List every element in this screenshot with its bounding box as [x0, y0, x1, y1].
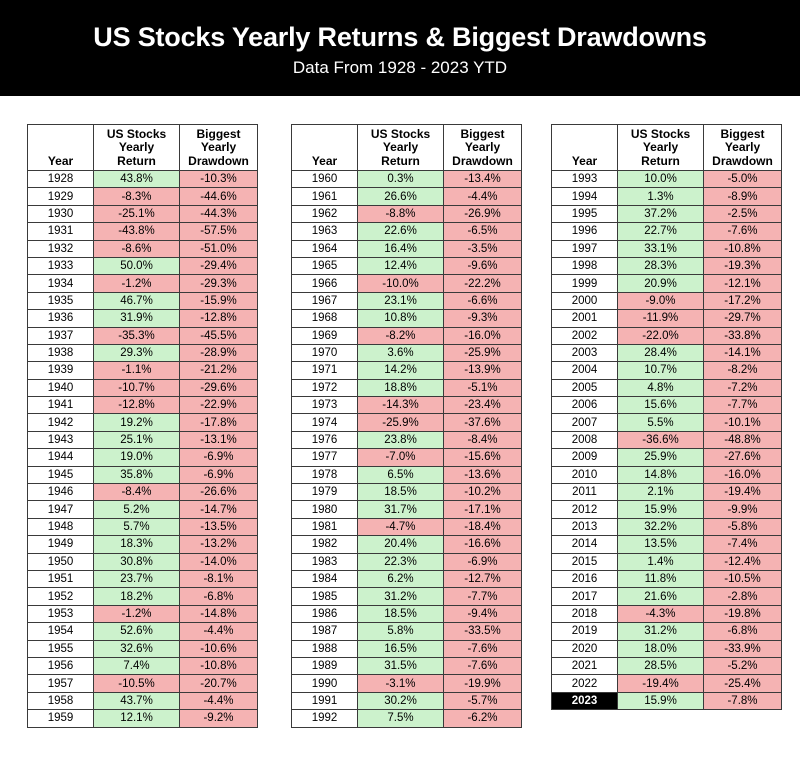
- cell-year: 1981: [292, 518, 358, 535]
- table-row: 201014.8%-16.0%: [552, 466, 782, 483]
- cell-year: 2004: [552, 362, 618, 379]
- cell-yearly-return: 19.0%: [94, 449, 180, 466]
- cell-year: 1986: [292, 605, 358, 622]
- table-row: 1969-8.2%-16.0%: [292, 327, 522, 344]
- cell-yearly-return: 2.1%: [618, 484, 704, 501]
- cell-biggest-drawdown: -25.4%: [704, 675, 782, 692]
- table-row: 200410.7%-8.2%: [552, 362, 782, 379]
- cell-biggest-drawdown: -10.5%: [704, 570, 782, 587]
- cell-year-highlighted: 2023: [552, 692, 618, 709]
- tables-area: YearUS StocksYearlyReturnBiggestYearlyDr…: [0, 96, 800, 768]
- table-row: 194918.3%-13.2%: [28, 536, 258, 553]
- cell-yearly-return: 1.3%: [618, 188, 704, 205]
- table-header-row: YearUS StocksYearlyReturnBiggestYearlyDr…: [552, 125, 782, 171]
- cell-yearly-return: 31.5%: [358, 657, 444, 674]
- cell-biggest-drawdown: -10.6%: [180, 640, 258, 657]
- cell-yearly-return: 29.3%: [94, 344, 180, 361]
- cell-biggest-drawdown: -9.9%: [704, 501, 782, 518]
- cell-year: 1956: [28, 657, 94, 674]
- cell-year: 1954: [28, 623, 94, 640]
- cell-biggest-drawdown: -27.6%: [704, 449, 782, 466]
- cell-yearly-return: 5.5%: [618, 414, 704, 431]
- cell-biggest-drawdown: -12.7%: [444, 570, 522, 587]
- table-row: 197623.8%-8.4%: [292, 431, 522, 448]
- cell-biggest-drawdown: -13.1%: [180, 431, 258, 448]
- cell-yearly-return: 28.5%: [618, 657, 704, 674]
- table-row: 19786.5%-13.6%: [292, 466, 522, 483]
- cell-yearly-return: 28.4%: [618, 344, 704, 361]
- cell-yearly-return: -1.1%: [94, 362, 180, 379]
- cell-biggest-drawdown: -12.4%: [704, 553, 782, 570]
- cell-year: 2022: [552, 675, 618, 692]
- cell-year: 1984: [292, 570, 358, 587]
- table-row: 19567.4%-10.8%: [28, 657, 258, 674]
- table-row: 199310.0%-5.0%: [552, 171, 782, 188]
- table-row: 20054.8%-7.2%: [552, 379, 782, 396]
- cell-yearly-return: 18.0%: [618, 640, 704, 657]
- cell-year: 1930: [28, 205, 94, 222]
- cell-yearly-return: 11.8%: [618, 570, 704, 587]
- cell-year: 1971: [292, 362, 358, 379]
- cell-yearly-return: -22.0%: [618, 327, 704, 344]
- cell-yearly-return: -4.3%: [618, 605, 704, 622]
- cell-biggest-drawdown: -57.5%: [180, 223, 258, 240]
- cell-biggest-drawdown: -8.4%: [444, 431, 522, 448]
- cell-year: 1970: [292, 344, 358, 361]
- cell-yearly-return: -8.6%: [94, 240, 180, 257]
- table-row: 1981-4.7%-18.4%: [292, 518, 522, 535]
- cell-yearly-return: -10.0%: [358, 275, 444, 292]
- cell-year: 1937: [28, 327, 94, 344]
- cell-yearly-return: 5.7%: [94, 518, 180, 535]
- cell-year: 1965: [292, 257, 358, 274]
- cell-biggest-drawdown: -12.8%: [180, 310, 258, 327]
- cell-biggest-drawdown: -9.3%: [444, 310, 522, 327]
- header-banner: US Stocks Yearly Returns & Biggest Drawd…: [0, 0, 800, 96]
- table-row: 1974-25.9%-37.6%: [292, 414, 522, 431]
- cell-biggest-drawdown: -51.0%: [180, 240, 258, 257]
- column-header-year: Year: [292, 125, 358, 171]
- cell-biggest-drawdown: -6.9%: [444, 553, 522, 570]
- cell-yearly-return: 31.9%: [94, 310, 180, 327]
- cell-yearly-return: -8.2%: [358, 327, 444, 344]
- cell-biggest-drawdown: -6.9%: [180, 466, 258, 483]
- cell-year: 1983: [292, 553, 358, 570]
- table-row: 19875.8%-33.5%: [292, 623, 522, 640]
- cell-biggest-drawdown: -6.6%: [444, 292, 522, 309]
- cell-yearly-return: 14.2%: [358, 362, 444, 379]
- cell-year: 2018: [552, 605, 618, 622]
- cell-yearly-return: 1.4%: [618, 553, 704, 570]
- cell-yearly-return: 12.4%: [358, 257, 444, 274]
- cell-year: 2016: [552, 570, 618, 587]
- table-row: 20075.5%-10.1%: [552, 414, 782, 431]
- cell-biggest-drawdown: -12.1%: [704, 275, 782, 292]
- table-row: 201413.5%-7.4%: [552, 536, 782, 553]
- cell-yearly-return: 23.8%: [358, 431, 444, 448]
- cell-yearly-return: -10.5%: [94, 675, 180, 692]
- table-row: 194325.1%-13.1%: [28, 431, 258, 448]
- cell-year: 1952: [28, 588, 94, 605]
- table-row: 199828.3%-19.3%: [552, 257, 782, 274]
- cell-yearly-return: 7.5%: [358, 710, 444, 727]
- cell-yearly-return: 22.7%: [618, 223, 704, 240]
- cell-yearly-return: 30.8%: [94, 553, 180, 570]
- cell-biggest-drawdown: -5.7%: [444, 692, 522, 709]
- cell-yearly-return: 14.8%: [618, 466, 704, 483]
- cell-yearly-return: -25.1%: [94, 205, 180, 222]
- cell-yearly-return: 10.0%: [618, 171, 704, 188]
- cell-yearly-return: 23.1%: [358, 292, 444, 309]
- table-row: 19703.6%-25.9%: [292, 344, 522, 361]
- table-row: 192843.8%-10.3%: [28, 171, 258, 188]
- cell-biggest-drawdown: -13.6%: [444, 466, 522, 483]
- table-row: 194219.2%-17.8%: [28, 414, 258, 431]
- table-row: 194419.0%-6.9%: [28, 449, 258, 466]
- cell-biggest-drawdown: -6.8%: [704, 623, 782, 640]
- cell-biggest-drawdown: -7.4%: [704, 536, 782, 553]
- table-row: 2022-19.4%-25.4%: [552, 675, 782, 692]
- table-row: 196126.6%-4.4%: [292, 188, 522, 205]
- cell-year: 1935: [28, 292, 94, 309]
- cell-yearly-return: 3.6%: [358, 344, 444, 361]
- cell-yearly-return: -43.8%: [94, 223, 180, 240]
- column-header-yearly-return: US StocksYearlyReturn: [94, 125, 180, 171]
- cell-biggest-drawdown: -2.5%: [704, 205, 782, 222]
- cell-biggest-drawdown: -25.9%: [444, 344, 522, 361]
- cell-yearly-return: 26.6%: [358, 188, 444, 205]
- table-row: 198031.7%-17.1%: [292, 501, 522, 518]
- cell-yearly-return: 18.2%: [94, 588, 180, 605]
- cell-yearly-return: 12.1%: [94, 710, 180, 727]
- table-row: 195912.1%-9.2%: [28, 710, 258, 727]
- page-subtitle: Data From 1928 - 2023 YTD: [293, 59, 507, 78]
- cell-biggest-drawdown: -13.9%: [444, 362, 522, 379]
- cell-biggest-drawdown: -29.3%: [180, 275, 258, 292]
- table-row: 1941-12.8%-22.9%: [28, 397, 258, 414]
- cell-yearly-return: 22.6%: [358, 223, 444, 240]
- cell-yearly-return: 16.5%: [358, 640, 444, 657]
- cell-yearly-return: 15.6%: [618, 397, 704, 414]
- cell-biggest-drawdown: -10.8%: [704, 240, 782, 257]
- table-row: 202128.5%-5.2%: [552, 657, 782, 674]
- cell-year: 1982: [292, 536, 358, 553]
- table-row: 1934-1.2%-29.3%: [28, 275, 258, 292]
- table-row: 198618.5%-9.4%: [292, 605, 522, 622]
- cell-year: 1938: [28, 344, 94, 361]
- cell-year: 1936: [28, 310, 94, 327]
- table-row: 198531.2%-7.7%: [292, 588, 522, 605]
- cell-yearly-return: 33.1%: [618, 240, 704, 257]
- cell-biggest-drawdown: -5.8%: [704, 518, 782, 535]
- cell-biggest-drawdown: -20.7%: [180, 675, 258, 692]
- cell-biggest-drawdown: -6.2%: [444, 710, 522, 727]
- table-row: 193631.9%-12.8%: [28, 310, 258, 327]
- cell-biggest-drawdown: -10.8%: [180, 657, 258, 674]
- cell-year: 1998: [552, 257, 618, 274]
- cell-yearly-return: 31.2%: [358, 588, 444, 605]
- table-row: 196322.6%-6.5%: [292, 223, 522, 240]
- cell-biggest-drawdown: -10.3%: [180, 171, 258, 188]
- cell-year: 1973: [292, 397, 358, 414]
- cell-year: 1964: [292, 240, 358, 257]
- table-row: 198322.3%-6.9%: [292, 553, 522, 570]
- cell-biggest-drawdown: -19.8%: [704, 605, 782, 622]
- cell-yearly-return: 6.5%: [358, 466, 444, 483]
- table-row: 1977-7.0%-15.6%: [292, 449, 522, 466]
- cell-year: 1933: [28, 257, 94, 274]
- cell-year: 1944: [28, 449, 94, 466]
- cell-yearly-return: -3.1%: [358, 675, 444, 692]
- cell-year: 2017: [552, 588, 618, 605]
- cell-biggest-drawdown: -2.8%: [704, 588, 782, 605]
- cell-biggest-drawdown: -23.4%: [444, 397, 522, 414]
- cell-yearly-return: -4.7%: [358, 518, 444, 535]
- cell-yearly-return: 28.3%: [618, 257, 704, 274]
- cell-biggest-drawdown: -19.4%: [704, 484, 782, 501]
- cell-biggest-drawdown: -3.5%: [444, 240, 522, 257]
- page-root: US Stocks Yearly Returns & Biggest Drawd…: [0, 0, 800, 768]
- cell-year: 1985: [292, 588, 358, 605]
- cell-year: 1995: [552, 205, 618, 222]
- table-row: 2018-4.3%-19.8%: [552, 605, 782, 622]
- cell-year: 1928: [28, 171, 94, 188]
- table-row: 19485.7%-13.5%: [28, 518, 258, 535]
- cell-biggest-drawdown: -45.5%: [180, 327, 258, 344]
- cell-year: 1961: [292, 188, 358, 205]
- cell-yearly-return: -8.3%: [94, 188, 180, 205]
- cell-year: 1929: [28, 188, 94, 205]
- cell-year: 2012: [552, 501, 618, 518]
- cell-biggest-drawdown: -4.4%: [444, 188, 522, 205]
- column-header-biggest-drawdown: BiggestYearlyDrawdown: [444, 125, 522, 171]
- cell-year: 1997: [552, 240, 618, 257]
- cell-year: 1990: [292, 675, 358, 692]
- cell-year: 2019: [552, 623, 618, 640]
- cell-biggest-drawdown: -7.7%: [444, 588, 522, 605]
- cell-biggest-drawdown: -29.6%: [180, 379, 258, 396]
- cell-year: 1999: [552, 275, 618, 292]
- cell-year: 2005: [552, 379, 618, 396]
- table-row: 1929-8.3%-44.6%: [28, 188, 258, 205]
- cell-yearly-return: 31.2%: [618, 623, 704, 640]
- cell-biggest-drawdown: -22.9%: [180, 397, 258, 414]
- cell-biggest-drawdown: -8.2%: [704, 362, 782, 379]
- table-row: 202315.9%-7.8%: [552, 692, 782, 709]
- cell-yearly-return: -10.7%: [94, 379, 180, 396]
- cell-year: 1959: [28, 710, 94, 727]
- cell-yearly-return: -8.8%: [358, 205, 444, 222]
- cell-year: 1994: [552, 188, 618, 205]
- cell-year: 1948: [28, 518, 94, 535]
- cell-biggest-drawdown: -10.1%: [704, 414, 782, 431]
- cell-year: 2001: [552, 310, 618, 327]
- cell-yearly-return: 43.8%: [94, 171, 180, 188]
- cell-year: 1940: [28, 379, 94, 396]
- cell-yearly-return: 23.7%: [94, 570, 180, 587]
- cell-biggest-drawdown: -14.7%: [180, 501, 258, 518]
- cell-yearly-return: 4.8%: [618, 379, 704, 396]
- cell-year: 1962: [292, 205, 358, 222]
- cell-year: 1931: [28, 223, 94, 240]
- cell-year: 1977: [292, 449, 358, 466]
- table-row: 201721.6%-2.8%: [552, 588, 782, 605]
- cell-biggest-drawdown: -8.1%: [180, 570, 258, 587]
- cell-yearly-return: 5.2%: [94, 501, 180, 518]
- cell-biggest-drawdown: -6.8%: [180, 588, 258, 605]
- cell-year: 2020: [552, 640, 618, 657]
- table-row: 195843.7%-4.4%: [28, 692, 258, 709]
- cell-biggest-drawdown: -16.6%: [444, 536, 522, 553]
- cell-yearly-return: -25.9%: [358, 414, 444, 431]
- cell-year: 1943: [28, 431, 94, 448]
- cell-yearly-return: 0.3%: [358, 171, 444, 188]
- cell-biggest-drawdown: -5.2%: [704, 657, 782, 674]
- cell-biggest-drawdown: -14.8%: [180, 605, 258, 622]
- table-row: 196416.4%-3.5%: [292, 240, 522, 257]
- cell-biggest-drawdown: -17.1%: [444, 501, 522, 518]
- table-row: 1946-8.4%-26.6%: [28, 484, 258, 501]
- table-header-row: YearUS StocksYearlyReturnBiggestYearlyDr…: [292, 125, 522, 171]
- cell-year: 1932: [28, 240, 94, 257]
- table-row: 1966-10.0%-22.2%: [292, 275, 522, 292]
- cell-yearly-return: 31.7%: [358, 501, 444, 518]
- cell-year: 1949: [28, 536, 94, 553]
- cell-yearly-return: -36.6%: [618, 431, 704, 448]
- table-row: 19927.5%-6.2%: [292, 710, 522, 727]
- cell-biggest-drawdown: -7.6%: [704, 223, 782, 240]
- cell-biggest-drawdown: -33.9%: [704, 640, 782, 657]
- cell-biggest-drawdown: -44.3%: [180, 205, 258, 222]
- cell-yearly-return: 25.1%: [94, 431, 180, 448]
- cell-year: 1978: [292, 466, 358, 483]
- table-row: 1953-1.2%-14.8%: [28, 605, 258, 622]
- table-row: 197114.2%-13.9%: [292, 362, 522, 379]
- cell-biggest-drawdown: -16.0%: [704, 466, 782, 483]
- table-row: 195452.6%-4.4%: [28, 623, 258, 640]
- table-row: 196512.4%-9.6%: [292, 257, 522, 274]
- cell-yearly-return: -9.0%: [618, 292, 704, 309]
- cell-yearly-return: 18.8%: [358, 379, 444, 396]
- cell-biggest-drawdown: -7.7%: [704, 397, 782, 414]
- cell-yearly-return: 6.2%: [358, 570, 444, 587]
- cell-yearly-return: 50.0%: [94, 257, 180, 274]
- cell-biggest-drawdown: -22.2%: [444, 275, 522, 292]
- table-row: 201931.2%-6.8%: [552, 623, 782, 640]
- table-row: 19600.3%-13.4%: [292, 171, 522, 188]
- cell-yearly-return: 32.6%: [94, 640, 180, 657]
- table-row: 202018.0%-33.9%: [552, 640, 782, 657]
- cell-year: 1979: [292, 484, 358, 501]
- column-header-yearly-return: US StocksYearlyReturn: [618, 125, 704, 171]
- cell-biggest-drawdown: -26.6%: [180, 484, 258, 501]
- cell-yearly-return: -8.4%: [94, 484, 180, 501]
- cell-year: 1966: [292, 275, 358, 292]
- table-row: 193546.7%-15.9%: [28, 292, 258, 309]
- cell-biggest-drawdown: -21.2%: [180, 362, 258, 379]
- cell-biggest-drawdown: -15.9%: [180, 292, 258, 309]
- cell-biggest-drawdown: -17.8%: [180, 414, 258, 431]
- table-row: 195532.6%-10.6%: [28, 640, 258, 657]
- cell-yearly-return: 18.3%: [94, 536, 180, 553]
- table-row: 1939-1.1%-21.2%: [28, 362, 258, 379]
- cell-year: 2000: [552, 292, 618, 309]
- column-header-year: Year: [552, 125, 618, 171]
- table-row: 199733.1%-10.8%: [552, 240, 782, 257]
- cell-yearly-return: -14.3%: [358, 397, 444, 414]
- cell-yearly-return: 21.6%: [618, 588, 704, 605]
- cell-biggest-drawdown: -10.2%: [444, 484, 522, 501]
- cell-year: 1939: [28, 362, 94, 379]
- cell-yearly-return: 25.9%: [618, 449, 704, 466]
- table-row: 1940-10.7%-29.6%: [28, 379, 258, 396]
- table-row: 2000-9.0%-17.2%: [552, 292, 782, 309]
- column-header-yearly-return: US StocksYearlyReturn: [358, 125, 444, 171]
- cell-yearly-return: 10.7%: [618, 362, 704, 379]
- cell-yearly-return: -19.4%: [618, 675, 704, 692]
- table-header-row: YearUS StocksYearlyReturnBiggestYearlyDr…: [28, 125, 258, 171]
- cell-year: 1988: [292, 640, 358, 657]
- table-row: 19941.3%-8.9%: [552, 188, 782, 205]
- cell-biggest-drawdown: -44.6%: [180, 188, 258, 205]
- cell-biggest-drawdown: -33.5%: [444, 623, 522, 640]
- cell-biggest-drawdown: -18.4%: [444, 518, 522, 535]
- cell-yearly-return: 32.2%: [618, 518, 704, 535]
- cell-year: 2011: [552, 484, 618, 501]
- cell-year: 1951: [28, 570, 94, 587]
- cell-year: 1947: [28, 501, 94, 518]
- table-row: 193829.3%-28.9%: [28, 344, 258, 361]
- cell-biggest-drawdown: -13.2%: [180, 536, 258, 553]
- cell-year: 1934: [28, 275, 94, 292]
- cell-biggest-drawdown: -14.1%: [704, 344, 782, 361]
- cell-year: 1968: [292, 310, 358, 327]
- page-title: US Stocks Yearly Returns & Biggest Drawd…: [93, 23, 706, 53]
- cell-year: 1976: [292, 431, 358, 448]
- cell-biggest-drawdown: -7.6%: [444, 640, 522, 657]
- table-row: 1973-14.3%-23.4%: [292, 397, 522, 414]
- cell-biggest-drawdown: -16.0%: [444, 327, 522, 344]
- cell-yearly-return: 46.7%: [94, 292, 180, 309]
- table-row: 19846.2%-12.7%: [292, 570, 522, 587]
- table-row: 201332.2%-5.8%: [552, 518, 782, 535]
- cell-year: 2009: [552, 449, 618, 466]
- cell-biggest-drawdown: -26.9%: [444, 205, 522, 222]
- table-row: 200615.6%-7.7%: [552, 397, 782, 414]
- cell-yearly-return: 7.4%: [94, 657, 180, 674]
- cell-year: 1991: [292, 692, 358, 709]
- cell-yearly-return: 5.8%: [358, 623, 444, 640]
- cell-year: 1955: [28, 640, 94, 657]
- cell-year: 2015: [552, 553, 618, 570]
- cell-biggest-drawdown: -9.6%: [444, 257, 522, 274]
- cell-yearly-return: 18.5%: [358, 605, 444, 622]
- table-row: 19475.2%-14.7%: [28, 501, 258, 518]
- cell-year: 1980: [292, 501, 358, 518]
- column-header-year: Year: [28, 125, 94, 171]
- cell-year: 1967: [292, 292, 358, 309]
- column-header-biggest-drawdown: BiggestYearlyDrawdown: [704, 125, 782, 171]
- cell-biggest-drawdown: -17.2%: [704, 292, 782, 309]
- cell-biggest-drawdown: -7.6%: [444, 657, 522, 674]
- cell-year: 1942: [28, 414, 94, 431]
- table-row: 199920.9%-12.1%: [552, 275, 782, 292]
- cell-yearly-return: 22.3%: [358, 553, 444, 570]
- cell-yearly-return: 10.8%: [358, 310, 444, 327]
- cell-year: 2003: [552, 344, 618, 361]
- cell-year: 1957: [28, 675, 94, 692]
- cell-yearly-return: 15.9%: [618, 692, 704, 709]
